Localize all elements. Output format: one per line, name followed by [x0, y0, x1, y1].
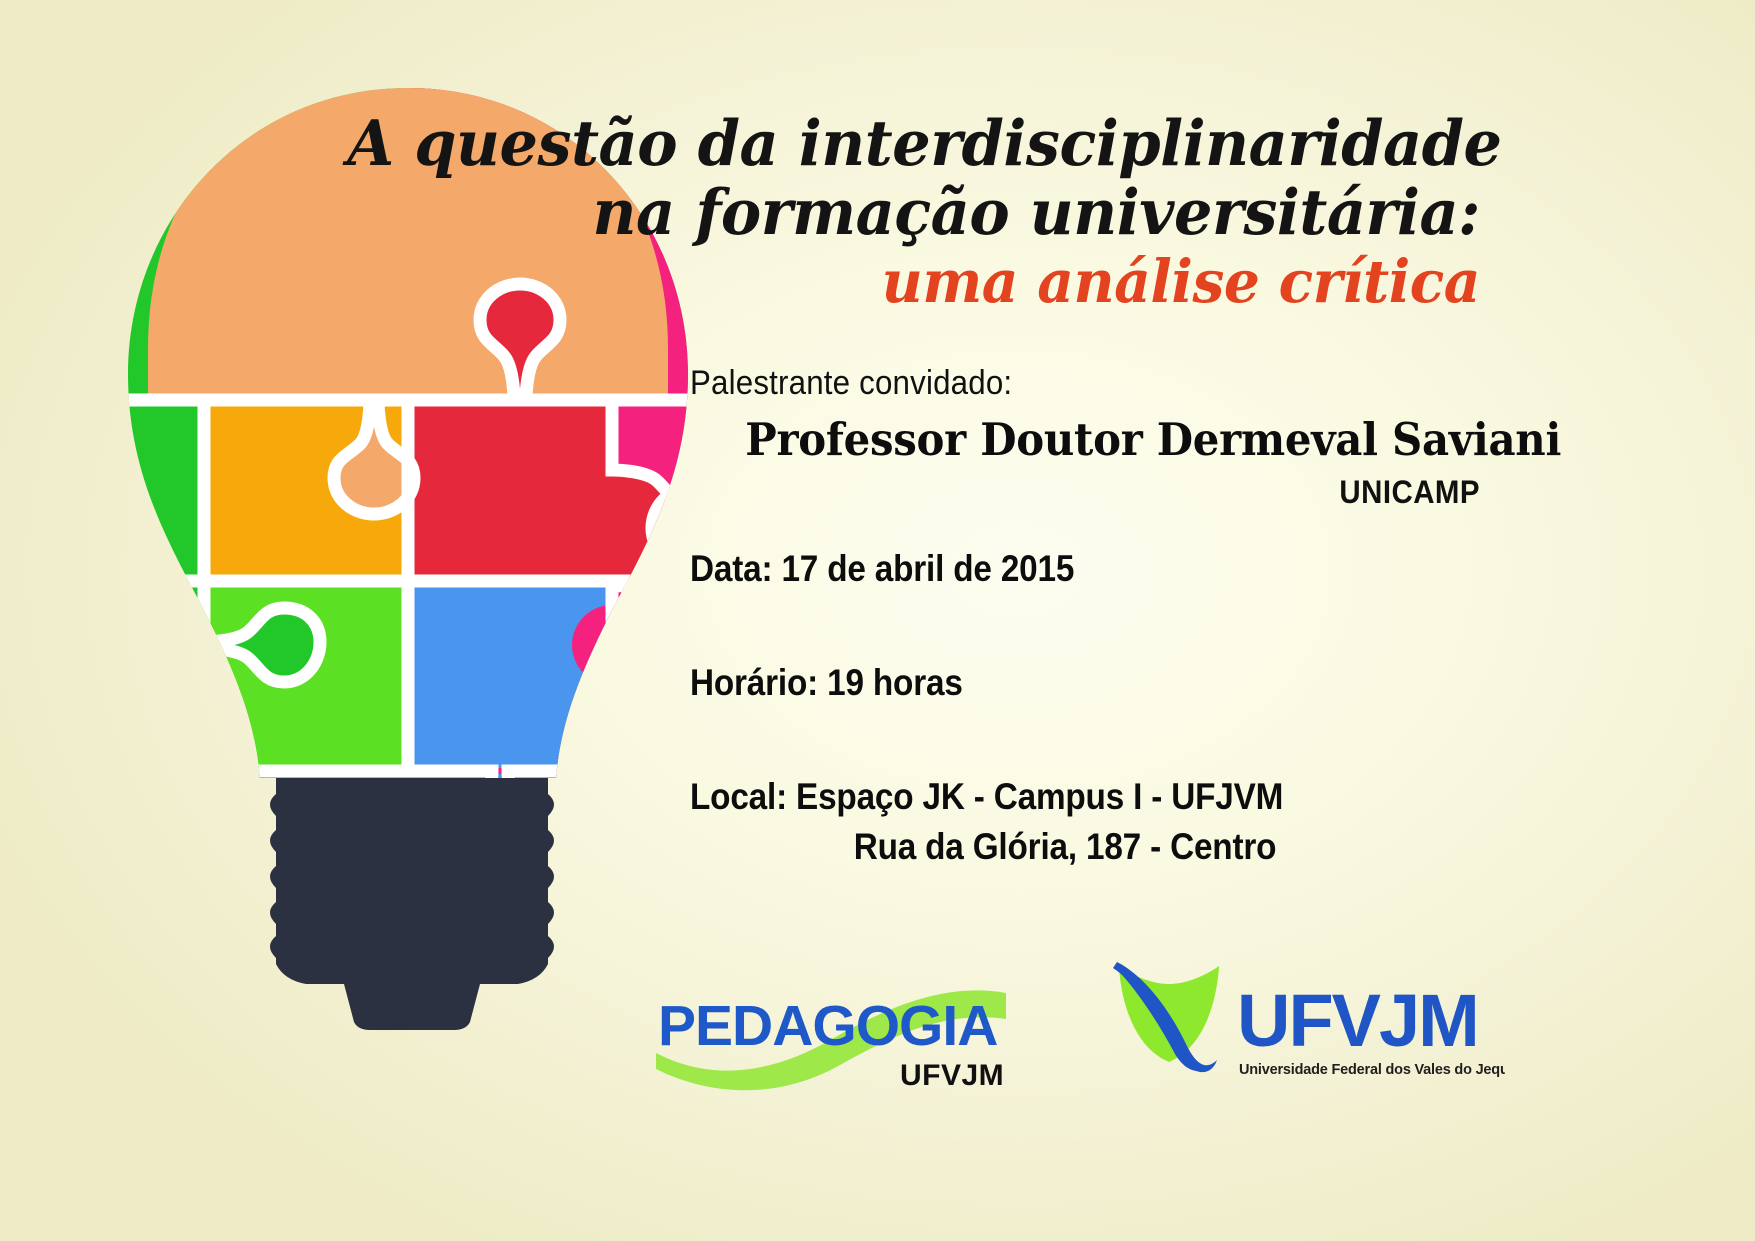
bulb-contact-tip: [344, 984, 480, 1030]
title-line-2: na formação universitária:: [347, 181, 1480, 244]
event-details-block: Data: 17 de abril de 2015 Horário: 19 ho…: [690, 548, 1480, 868]
poster-canvas: A questão da interdisciplinaridade na fo…: [0, 0, 1755, 1241]
ufvjm-logo: UFVJM Universidade Federal dos Vales do …: [1105, 950, 1505, 1100]
puzzle-blank-magenta: [572, 605, 652, 685]
event-time: Horário: 19 horas: [690, 662, 1401, 704]
title-line-3: uma análise crítica: [347, 252, 1480, 311]
puzzle-piece-blue: [408, 584, 692, 768]
pedagogia-wordmark: PEDAGOGIA: [658, 994, 997, 1058]
event-date: Data: 17 de abril de 2015: [690, 548, 1401, 590]
speaker-block: Palestrante convidado: Professor Doutor …: [690, 364, 1480, 511]
ufvjm-tagline: Universidade Federal dos Vales do Jequit…: [1239, 1062, 1505, 1078]
page-title: A questão da interdisciplinaridade na fo…: [300, 112, 1480, 311]
event-location-line2: Rua da Glória, 187 - Centro: [728, 826, 1403, 868]
ufvjm-wordmark: UFVJM: [1237, 979, 1478, 1062]
speaker-label: Palestrante convidado:: [690, 364, 1012, 403]
pedagogia-sub-wordmark: UFVJM: [900, 1059, 1004, 1092]
speaker-name: Professor Doutor Dermeval Saviani: [745, 413, 1480, 466]
title-line-1: A questão da interdisciplinaridade: [347, 112, 1480, 175]
event-location-line1: Local: Espaço JK - Campus I - UFJVM: [690, 776, 1401, 818]
leaf-swoosh-icon: [1113, 962, 1219, 1072]
logo-row: PEDAGOGIA UFVJM UFVJM Universidade Feder…: [650, 955, 1530, 1115]
bulb-screw-base: [270, 778, 554, 1030]
pedagogia-logo: PEDAGOGIA UFVJM: [650, 955, 1010, 1095]
speaker-affiliation: UNICAMP: [753, 474, 1480, 511]
